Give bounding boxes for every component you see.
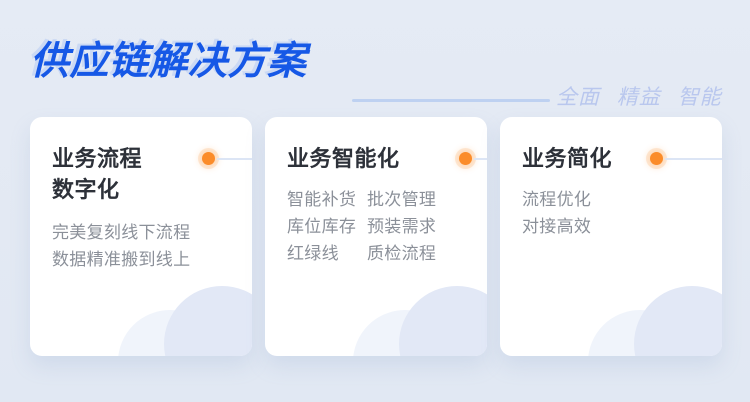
card-accent-connector	[650, 152, 722, 166]
card-feature-lines: 完美复刻线下流程 数据精准搬到线上	[52, 219, 252, 273]
connector-line-icon	[665, 158, 722, 160]
card-content: 业务流程 数字化 完美复刻线下流程 数据精准搬到线上	[30, 117, 252, 273]
feature-card-business-simplification[interactable]: 业务简化 流程优化 对接高效	[500, 117, 722, 356]
card-title-row: 业务流程 数字化	[52, 143, 252, 205]
feature-card-list: 业务流程 数字化 完美复刻线下流程 数据精准搬到线上	[0, 117, 750, 357]
header-tag-intelligent: 智能	[678, 86, 722, 109]
card-title-row: 业务智能化	[287, 143, 487, 174]
feature-text: 质检流程	[367, 240, 436, 267]
card-feature-lines: 流程优化 对接高效	[522, 186, 722, 240]
accent-dot-icon	[202, 152, 215, 165]
feature-text: 红绿线	[287, 240, 367, 267]
card-accent-connector	[202, 152, 252, 166]
card-content: 业务简化 流程优化 对接高效	[500, 117, 722, 240]
supply-chain-solution-banner: 供应链解决方案 全面 精益 智能 业务流程 数字化	[0, 0, 750, 402]
list-item: 库位库存预装需求	[287, 213, 487, 240]
list-item: 红绿线质检流程	[287, 240, 487, 267]
page-title: 供应链解决方案	[30, 36, 307, 88]
card-content: 业务智能化 智能补货批次管理 库位库存预装需求 红绿线质检流程	[265, 117, 487, 267]
card-accent-connector	[459, 152, 487, 166]
feature-text: 批次管理	[367, 186, 436, 213]
list-item: 流程优化	[522, 186, 722, 213]
decorative-circle-dark-icon	[164, 286, 252, 356]
accent-dot-icon	[650, 152, 663, 165]
feature-text: 流程优化	[522, 186, 602, 213]
header-tag-comprehensive: 全面	[556, 86, 600, 109]
card-title: 业务智能化	[287, 143, 400, 174]
connector-line-icon	[217, 158, 252, 160]
list-item: 完美复刻线下流程	[52, 219, 252, 246]
decorative-circle-light-icon	[353, 310, 457, 356]
header-tag-list: 全面 精益 智能	[556, 83, 722, 113]
card-title-row: 业务简化	[522, 143, 722, 174]
banner-header: 供应链解决方案 全面 精益 智能	[0, 36, 750, 94]
decorative-circle-light-icon	[118, 310, 222, 356]
header-divider-line	[352, 99, 550, 102]
card-feature-lines: 智能补货批次管理 库位库存预装需求 红绿线质检流程	[287, 186, 487, 267]
feature-text: 数据精准搬到线上	[52, 246, 190, 273]
decorative-circle-dark-icon	[634, 286, 722, 356]
feature-text: 对接高效	[522, 213, 602, 240]
card-title: 业务流程 数字化	[52, 143, 142, 205]
feature-text: 预装需求	[367, 213, 436, 240]
connector-line-icon	[474, 158, 487, 160]
header-tag-lean: 精益	[617, 86, 661, 109]
decorative-circle-dark-icon	[399, 286, 487, 356]
feature-card-business-process-digitization[interactable]: 业务流程 数字化 完美复刻线下流程 数据精准搬到线上	[30, 117, 252, 356]
list-item: 数据精准搬到线上	[52, 246, 252, 273]
list-item: 对接高效	[522, 213, 722, 240]
decorative-circle-light-icon	[588, 310, 692, 356]
feature-text: 库位库存	[287, 213, 367, 240]
feature-text: 智能补货	[287, 186, 367, 213]
list-item: 智能补货批次管理	[287, 186, 487, 213]
feature-text: 完美复刻线下流程	[52, 219, 190, 246]
card-title: 业务简化	[522, 143, 612, 174]
accent-dot-icon	[459, 152, 472, 165]
feature-card-business-intelligence[interactable]: 业务智能化 智能补货批次管理 库位库存预装需求 红绿线质检流程	[265, 117, 487, 356]
